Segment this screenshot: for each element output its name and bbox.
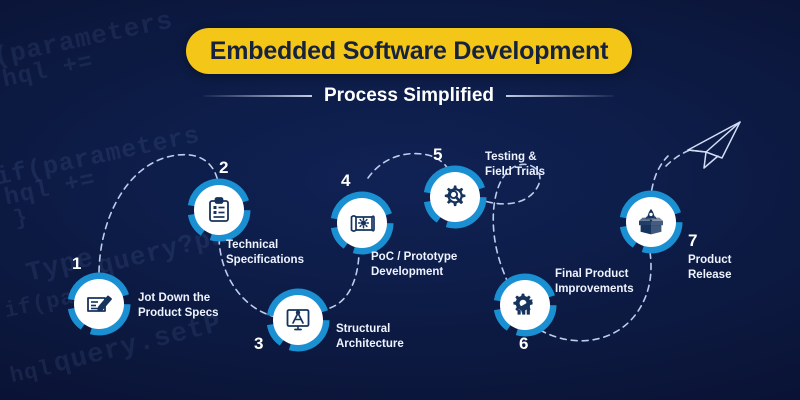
- step-number-6: 6: [519, 335, 528, 352]
- subtitle-divider-left: [204, 95, 312, 97]
- gear-magnifier-icon: [441, 183, 469, 211]
- step-icon-4: [337, 198, 387, 248]
- infographic-canvas: (parameters hql += if(parameters hql += …: [0, 0, 800, 400]
- step-label-3: Structural Architecture: [336, 322, 404, 351]
- step-label-6: Final Product Improvements: [555, 267, 634, 296]
- paper-plane-icon: [688, 122, 740, 168]
- step-icon-1: [74, 279, 124, 329]
- step-icon-7: [626, 197, 676, 247]
- step-number-5: 5: [433, 146, 442, 163]
- step-number-4: 4: [341, 172, 350, 189]
- blueprint-bulb-icon: [348, 209, 376, 237]
- rocket-box-icon: [636, 207, 666, 237]
- page-title: Embedded Software Development: [210, 37, 608, 66]
- step-label-7: Product Release: [688, 253, 731, 282]
- paper-plane-trail: [666, 150, 690, 166]
- step-number-3: 3: [254, 335, 263, 352]
- step-node-1[interactable]: [67, 272, 131, 336]
- step-label-2: Technical Specifications: [226, 238, 304, 267]
- document-pencil-icon: [85, 290, 113, 318]
- page-subtitle: Process Simplified: [324, 85, 494, 107]
- compass-monitor-icon: [284, 306, 312, 334]
- step-icon-3: [273, 295, 323, 345]
- subtitle-row: Process Simplified: [186, 82, 632, 110]
- clipboard-icon: [205, 196, 233, 224]
- title-banner: Embedded Software Development: [186, 28, 632, 74]
- step-number-1: 1: [72, 255, 81, 272]
- step-node-2[interactable]: [187, 178, 251, 242]
- step-node-6[interactable]: [493, 273, 557, 337]
- gear-growth-chart-icon: [511, 291, 539, 319]
- step-node-7[interactable]: [619, 190, 683, 254]
- step-node-4[interactable]: [330, 191, 394, 255]
- step-node-5[interactable]: [423, 165, 487, 229]
- step-icon-2: [194, 185, 244, 235]
- step-node-3[interactable]: [266, 288, 330, 352]
- step-label-5: Testing & Field Trials: [485, 150, 545, 179]
- step-icon-5: [430, 172, 480, 222]
- step-number-2: 2: [219, 159, 228, 176]
- step-number-7: 7: [688, 232, 697, 249]
- step-label-4: PoC / Prototype Development: [371, 250, 457, 279]
- subtitle-divider-right: [506, 95, 614, 97]
- step-label-1: Jot Down the Product Specs: [138, 291, 219, 320]
- step-icon-6: [500, 280, 550, 330]
